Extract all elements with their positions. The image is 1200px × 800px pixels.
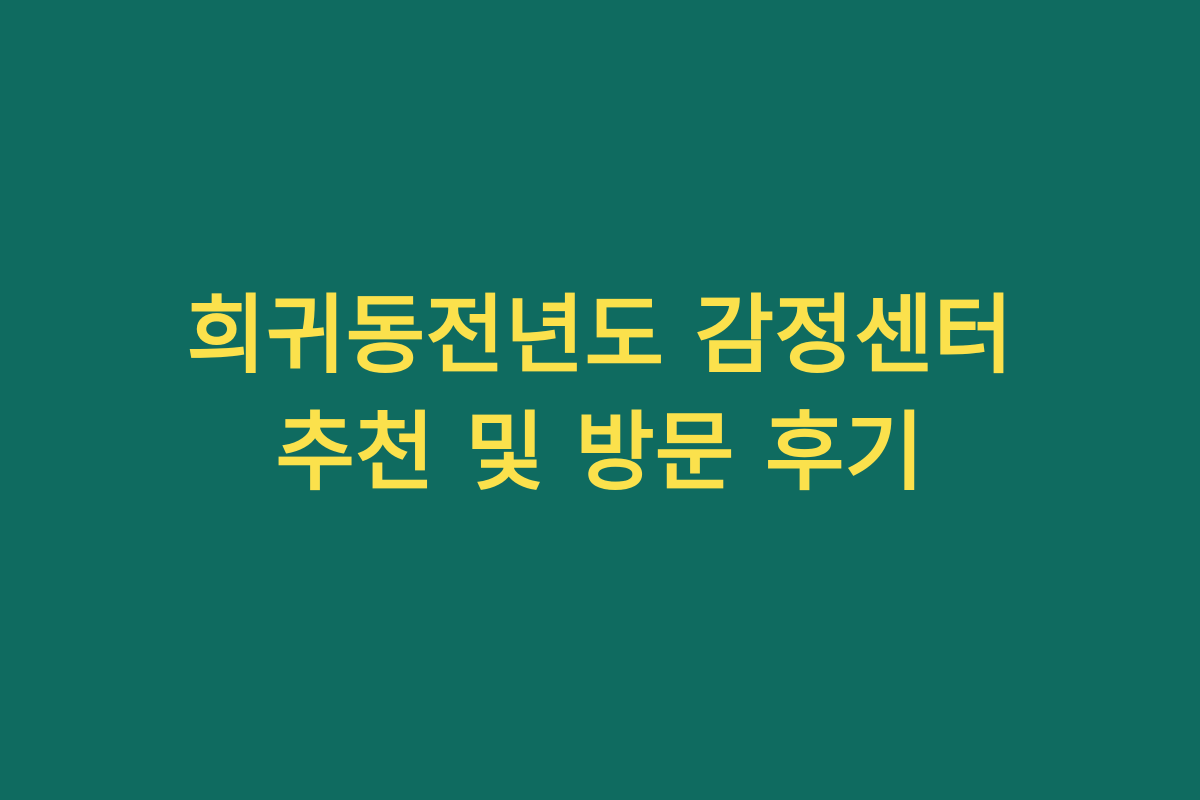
banner-title-line-2: 추천 및 방문 후기 xyxy=(0,395,1200,512)
banner-title: 희귀동전년도 감정센터 추천 및 방문 후기 xyxy=(0,278,1200,512)
banner-title-line-1: 희귀동전년도 감정센터 xyxy=(0,278,1200,395)
banner-root: 희귀동전년도 감정센터 추천 및 방문 후기 xyxy=(0,0,1200,800)
